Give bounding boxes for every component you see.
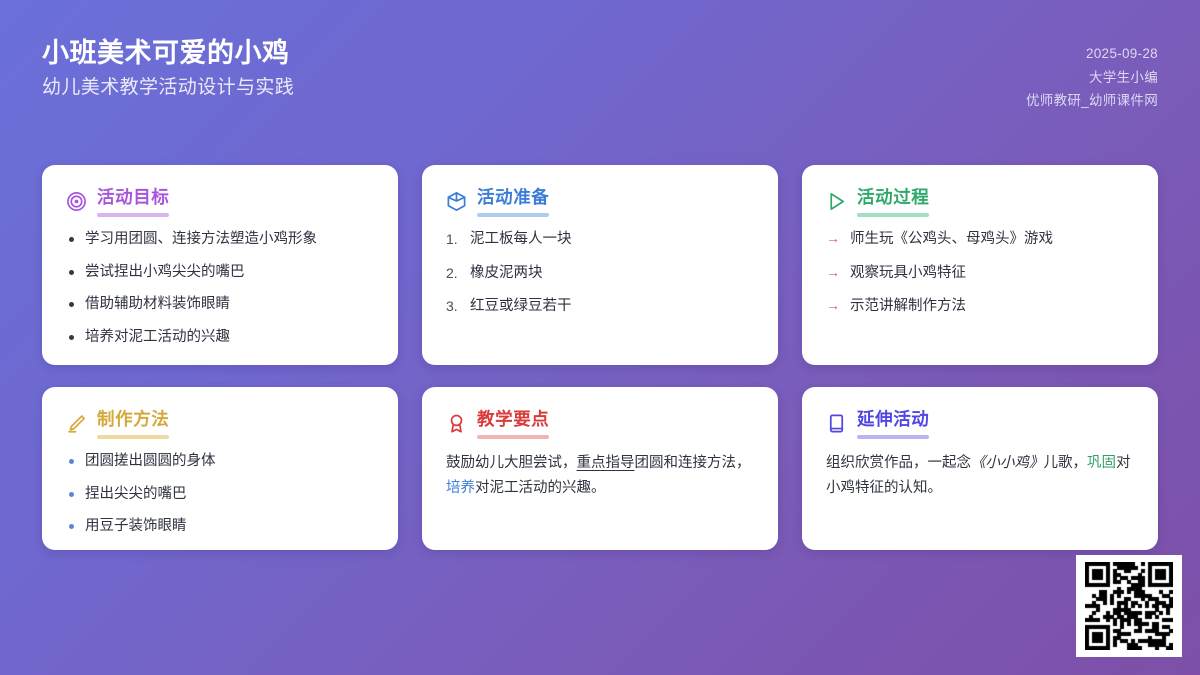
title-block: 小班美术可爱的小鸡 幼儿美术教学活动设计与实践 <box>42 38 294 100</box>
book-icon <box>826 413 847 434</box>
list-item: 泥工板每人一块 <box>446 229 754 251</box>
bullet-list: 学习用团圆、连接方法塑造小鸡形象尝试捏出小鸡尖尖的嘴巴借助辅助材料装饰眼睛培养对… <box>66 229 374 349</box>
paragraph-segment: 重点指导 <box>577 455 635 471</box>
card-process: 活动过程师生玩《公鸡头、母鸡头》游戏观察玩具小鸡特征示范讲解制作方法 <box>802 165 1158 365</box>
list-item: 师生玩《公鸡头、母鸡头》游戏 <box>826 229 1134 251</box>
card-title-underline <box>477 435 549 439</box>
card-method: 制作方法团圆搓出圆圆的身体捏出尖尖的嘴巴用豆子装饰眼睛 <box>42 387 398 550</box>
card-title-underline <box>97 435 169 439</box>
paragraph-segment: 儿歌， <box>1044 455 1088 471</box>
meta-site: 优师教研_幼师课件网 <box>1026 91 1158 111</box>
list-item: 捏出尖尖的嘴巴 <box>66 484 374 506</box>
target-icon <box>66 191 87 212</box>
card-title: 活动目标 <box>97 187 169 209</box>
card-title: 制作方法 <box>97 409 169 431</box>
paragraph-segment: 《小小鸡》 <box>971 455 1044 471</box>
paragraph: 鼓励幼儿大胆尝试，重点指导团圆和连接方法，培养对泥工活动的兴趣。 <box>446 451 754 502</box>
paragraph: 组织欣赏作品，一起念《小小鸡》儿歌，巩固对小鸡特征的认知。 <box>826 451 1134 502</box>
card-objectives: 活动目标学习用团圆、连接方法塑造小鸡形象尝试捏出小鸡尖尖的嘴巴借助辅助材料装饰眼… <box>42 165 398 365</box>
bullet-list: 团圆搓出圆圆的身体捏出尖尖的嘴巴用豆子装饰眼睛 <box>66 451 374 538</box>
card-title-underline <box>857 435 929 439</box>
paragraph-segment: 巩固 <box>1087 455 1116 471</box>
list-item: 示范讲解制作方法 <box>826 296 1134 318</box>
card-header: 延伸活动 <box>826 409 1134 439</box>
card-title: 活动准备 <box>477 187 549 209</box>
slide-header: 小班美术可爱的小鸡 幼儿美术教学活动设计与实践 2025-09-28 大学生小编… <box>0 0 1200 150</box>
card-title-wrap: 活动过程 <box>857 187 929 217</box>
list-item: 用豆子装饰眼睛 <box>66 516 374 538</box>
card-header: 活动过程 <box>826 187 1134 217</box>
paragraph-segment: 团圆和连接方法， <box>635 455 751 471</box>
list-item: 橡皮泥两块 <box>446 263 754 285</box>
numbered-list: 泥工板每人一块橡皮泥两块红豆或绿豆若干 <box>446 229 754 318</box>
list-item: 借助辅助材料装饰眼睛 <box>66 294 374 316</box>
card-header: 教学要点 <box>446 409 754 439</box>
card-keypoints: 教学要点鼓励幼儿大胆尝试，重点指导团圆和连接方法，培养对泥工活动的兴趣。 <box>422 387 778 550</box>
card-title: 延伸活动 <box>857 409 929 431</box>
card-grid: 活动目标学习用团圆、连接方法塑造小鸡形象尝试捏出小鸡尖尖的嘴巴借助辅助材料装饰眼… <box>42 165 1158 550</box>
card-title: 活动过程 <box>857 187 929 209</box>
card-title: 教学要点 <box>477 409 549 431</box>
card-extension: 延伸活动组织欣赏作品，一起念《小小鸡》儿歌，巩固对小鸡特征的认知。 <box>802 387 1158 550</box>
list-item: 团圆搓出圆圆的身体 <box>66 451 374 473</box>
card-header: 制作方法 <box>66 409 374 439</box>
play-icon <box>826 191 847 212</box>
card-body: 学习用团圆、连接方法塑造小鸡形象尝试捏出小鸡尖尖的嘴巴借助辅助材料装饰眼睛培养对… <box>66 229 374 349</box>
cube-icon <box>446 191 467 212</box>
list-item: 尝试捏出小鸡尖尖的嘴巴 <box>66 262 374 284</box>
paragraph-segment: 培养 <box>446 480 475 496</box>
card-title-underline <box>97 213 169 217</box>
page-title: 小班美术可爱的小鸡 <box>42 38 294 69</box>
card-body: 师生玩《公鸡头、母鸡头》游戏观察玩具小鸡特征示范讲解制作方法 <box>826 229 1134 318</box>
card-header: 活动准备 <box>446 187 754 217</box>
card-title-wrap: 延伸活动 <box>857 409 929 439</box>
card-preparation: 活动准备泥工板每人一块橡皮泥两块红豆或绿豆若干 <box>422 165 778 365</box>
paragraph-segment: 对泥工活动的兴趣。 <box>475 480 606 496</box>
award-icon <box>446 413 467 434</box>
card-title-wrap: 教学要点 <box>477 409 549 439</box>
meta-author: 大学生小编 <box>1089 68 1158 88</box>
list-item: 观察玩具小鸡特征 <box>826 263 1134 285</box>
card-body: 组织欣赏作品，一起念《小小鸡》儿歌，巩固对小鸡特征的认知。 <box>826 451 1134 502</box>
card-title-wrap: 活动目标 <box>97 187 169 217</box>
qr-code-image <box>1085 562 1173 650</box>
card-body: 团圆搓出圆圆的身体捏出尖尖的嘴巴用豆子装饰眼睛 <box>66 451 374 538</box>
card-header: 活动目标 <box>66 187 374 217</box>
list-item: 红豆或绿豆若干 <box>446 296 754 318</box>
list-item: 学习用团圆、连接方法塑造小鸡形象 <box>66 229 374 251</box>
card-title-underline <box>857 213 929 217</box>
qr-code[interactable] <box>1076 555 1182 657</box>
card-body: 鼓励幼儿大胆尝试，重点指导团圆和连接方法，培养对泥工活动的兴趣。 <box>446 451 754 502</box>
paragraph-segment: 组织欣赏作品，一起念 <box>826 455 971 471</box>
arrow-list: 师生玩《公鸡头、母鸡头》游戏观察玩具小鸡特征示范讲解制作方法 <box>826 229 1134 318</box>
header-meta: 2025-09-28 大学生小编 优师教研_幼师课件网 <box>1026 38 1158 111</box>
pencil-icon <box>66 413 87 434</box>
card-body: 泥工板每人一块橡皮泥两块红豆或绿豆若干 <box>446 229 754 318</box>
card-title-wrap: 活动准备 <box>477 187 549 217</box>
paragraph-segment: 鼓励幼儿大胆尝试， <box>446 455 577 471</box>
list-item: 培养对泥工活动的兴趣 <box>66 327 374 349</box>
meta-date: 2025-09-28 <box>1086 44 1158 64</box>
card-title-wrap: 制作方法 <box>97 409 169 439</box>
page-subtitle: 幼儿美术教学活动设计与实践 <box>42 77 294 100</box>
card-title-underline <box>477 213 549 217</box>
